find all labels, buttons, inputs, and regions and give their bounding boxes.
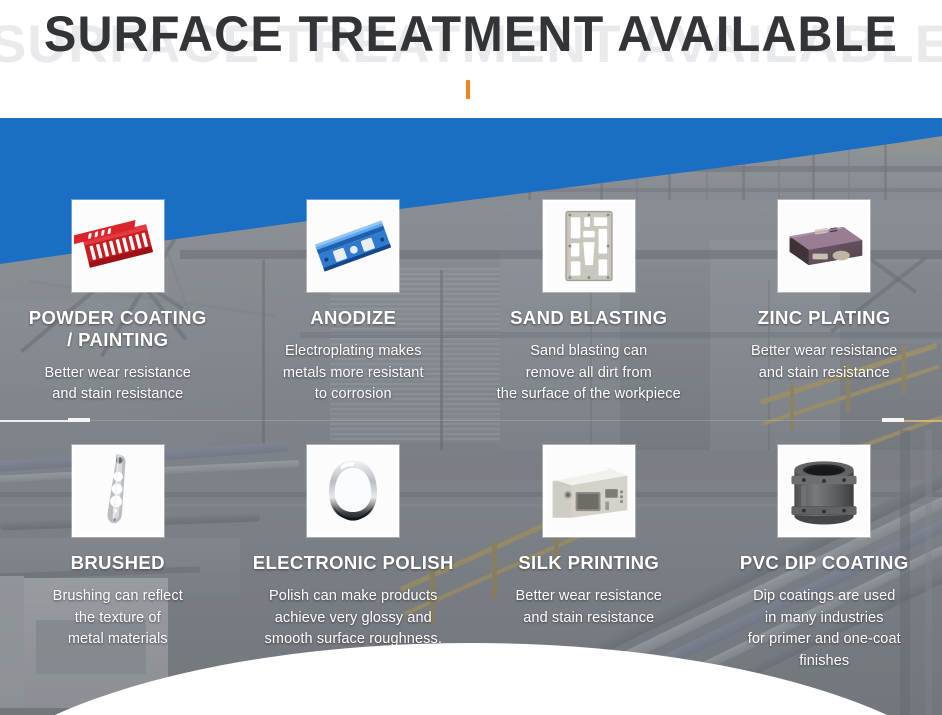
silk-printing-thumbnail (543, 445, 635, 537)
treatment-card-electronic-polish[interactable]: ELECTRONIC POLISH Polish can make produc… (236, 445, 472, 673)
treatment-title: PVC DIP COATING (740, 552, 909, 574)
treatment-card-powder-coating[interactable]: POWDER COATING / PAINTING Better wear re… (0, 200, 236, 406)
page-title: SURFACE TREATMENT AVAILABLE (14, 5, 928, 63)
treatment-description: Sand blasting can remove all dirt from t… (477, 341, 701, 406)
treatment-title: ZINC PLATING (758, 307, 891, 329)
powder-coating-thumbnail (72, 200, 164, 292)
treatment-description: Dip coatings are used in many industries… (712, 586, 936, 673)
red-slotted-bracket-icon (74, 200, 162, 292)
electronic-polish-thumbnail (307, 445, 399, 537)
treatment-title: SAND BLASTING (510, 307, 667, 329)
silk-printed-enclosure-icon (545, 445, 633, 537)
treatment-title: SILK PRINTING (518, 552, 659, 574)
sand-blasting-thumbnail (543, 200, 635, 292)
pvc-dip-coating-thumbnail (778, 445, 870, 537)
treatment-card-brushed[interactable]: BRUSHED Brushing can reflect the texture… (0, 445, 236, 673)
pvc-dip-coated-flange-icon (780, 445, 868, 537)
treatment-description: Polish can make products achieve very gl… (241, 586, 465, 651)
zinc-plated-chassis-icon (780, 200, 868, 292)
treatment-card-sand-blasting[interactable]: SAND BLASTING Sand blasting can remove a… (471, 200, 707, 406)
section-divider-left (0, 420, 68, 422)
brushed-plate-icon (74, 445, 162, 537)
treatment-row-2: BRUSHED Brushing can reflect the texture… (0, 445, 942, 673)
surface-treatment-banner: SURFACE TREATMENT AVAILABLE SURFACE TREA… (0, 0, 942, 715)
treatment-description: Brushing can reflect the texture of meta… (6, 586, 230, 651)
title-band: SURFACE TREATMENT AVAILABLE SURFACE TREA… (0, 0, 942, 118)
treatment-title: ANODIZE (310, 307, 396, 329)
treatment-title: POWDER COATING / PAINTING (29, 307, 207, 351)
title-accent-rule (466, 80, 470, 99)
treatment-card-zinc-plating[interactable]: ZINC PLATING Better wear resistance and … (707, 200, 942, 406)
blue-anodized-bracket-icon (309, 200, 397, 292)
polished-chrome-ring-icon (309, 445, 397, 537)
brushed-thumbnail (72, 445, 164, 537)
treatment-description: Better wear resistance and stain resista… (712, 341, 936, 385)
treatment-card-pvc-dip-coating[interactable]: PVC DIP COATING Dip coatings are used in… (707, 445, 942, 673)
section-divider (0, 420, 942, 421)
treatment-description: Better wear resistance and stain resista… (6, 363, 230, 407)
treatment-title: BRUSHED (71, 552, 165, 574)
treatment-title: ELECTRONIC POLISH (253, 552, 454, 574)
anodize-thumbnail (307, 200, 399, 292)
treatment-description: Better wear resistance and stain resista… (477, 586, 701, 630)
treatment-row-1: POWDER COATING / PAINTING Better wear re… (0, 200, 942, 406)
divider-dash-right (882, 418, 904, 422)
section-divider-right (904, 420, 942, 422)
zinc-plating-thumbnail (778, 200, 870, 292)
divider-dash-left (68, 418, 90, 422)
treatments-grid: POWDER COATING / PAINTING Better wear re… (0, 100, 942, 715)
treatment-card-anodize[interactable]: ANODIZE Electroplating makes metals more… (236, 200, 472, 406)
treatment-description: Electroplating makes metals more resista… (241, 341, 465, 406)
sandblasted-plate-icon (545, 200, 633, 292)
treatment-card-silk-printing[interactable]: SILK PRINTING Better wear resistance and… (471, 445, 707, 673)
